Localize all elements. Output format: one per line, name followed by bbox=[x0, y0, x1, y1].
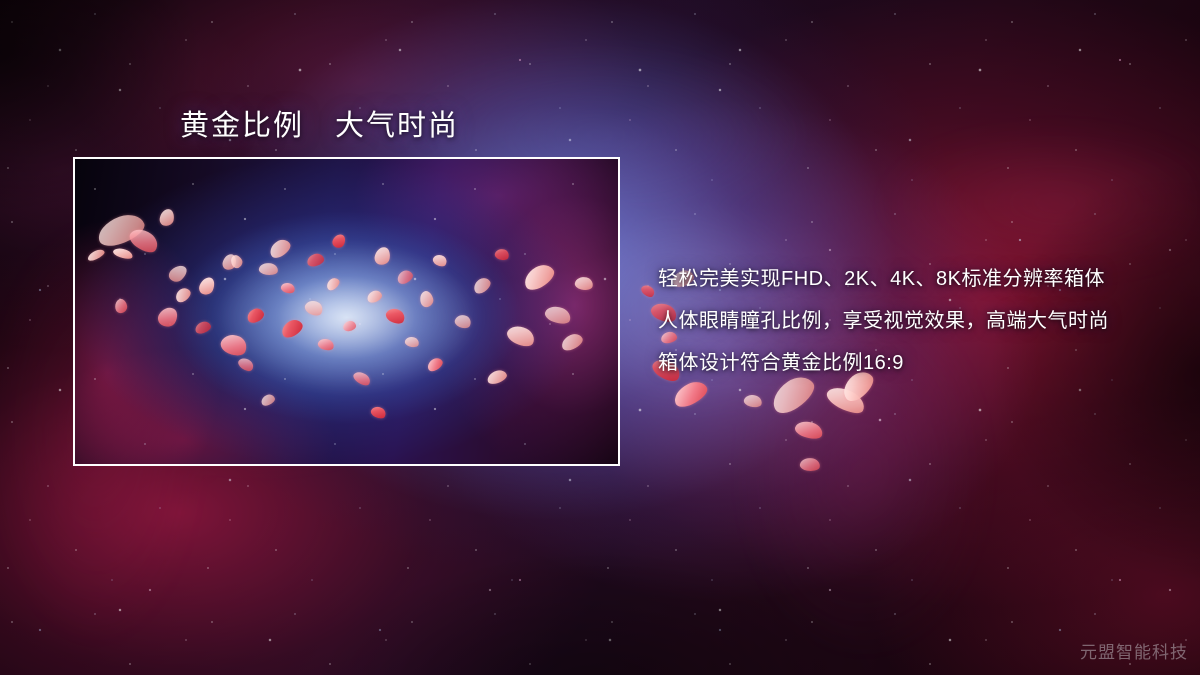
nebula-photo-core-glow bbox=[75, 159, 618, 464]
page-title: 黄金比例 大气时尚 bbox=[180, 102, 459, 144]
body-line-1: 轻松完美实现FHD、2K、4K、8K标准分辨率箱体 bbox=[658, 258, 1168, 300]
body-line-3: 箱体设计符合黄金比例16:9 bbox=[658, 342, 1168, 384]
slide-canvas: 黄金比例 大气时尚 轻松完美实现FHD、2K、4K、8K标准分辨率箱体 人体眼睛… bbox=[0, 0, 1200, 675]
image-frame bbox=[73, 157, 620, 466]
body-line-2: 人体眼睛瞳孔比例，享受视觉效果，高端大气时尚 bbox=[658, 300, 1168, 342]
watermark: 元盟智能科技 bbox=[1080, 638, 1188, 663]
body-text-block: 轻松完美实现FHD、2K、4K、8K标准分辨率箱体 人体眼睛瞳孔比例，享受视觉效… bbox=[658, 258, 1168, 384]
